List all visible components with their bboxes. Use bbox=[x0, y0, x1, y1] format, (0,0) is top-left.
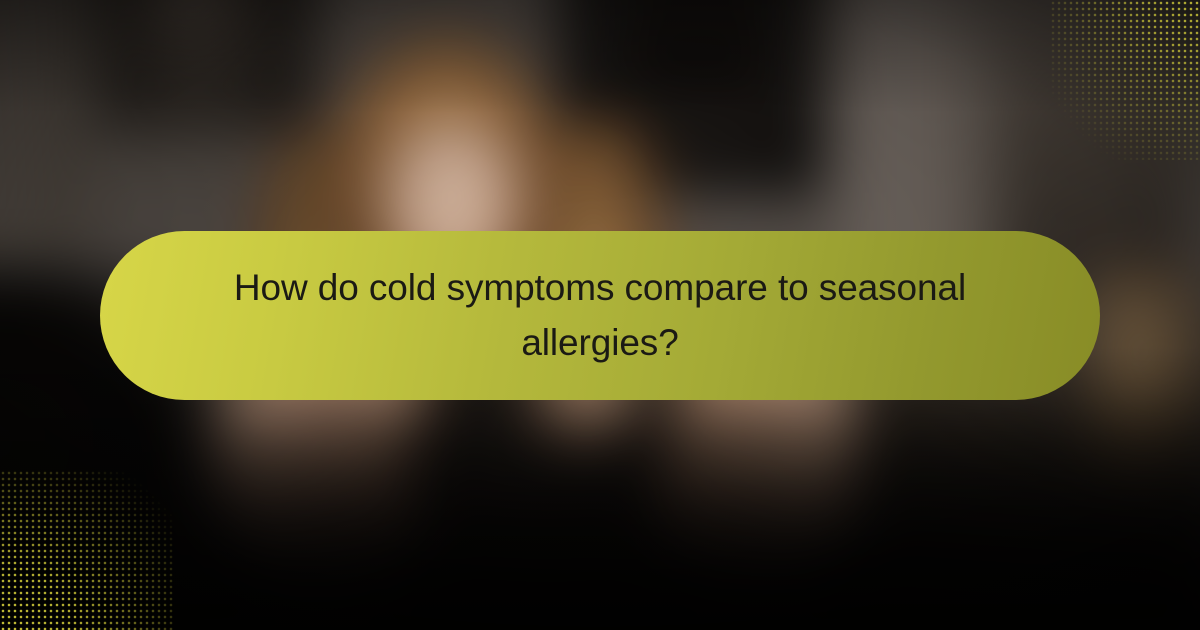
social-share-card: How do cold symptoms compare to seasonal… bbox=[0, 0, 1200, 630]
background-picture-frame-center-inner bbox=[632, 0, 759, 98]
background-picture-frame-left-inner bbox=[128, 0, 255, 55]
question-pill: How do cold symptoms compare to seasonal… bbox=[100, 231, 1100, 400]
question-text: How do cold symptoms compare to seasonal… bbox=[205, 261, 995, 371]
